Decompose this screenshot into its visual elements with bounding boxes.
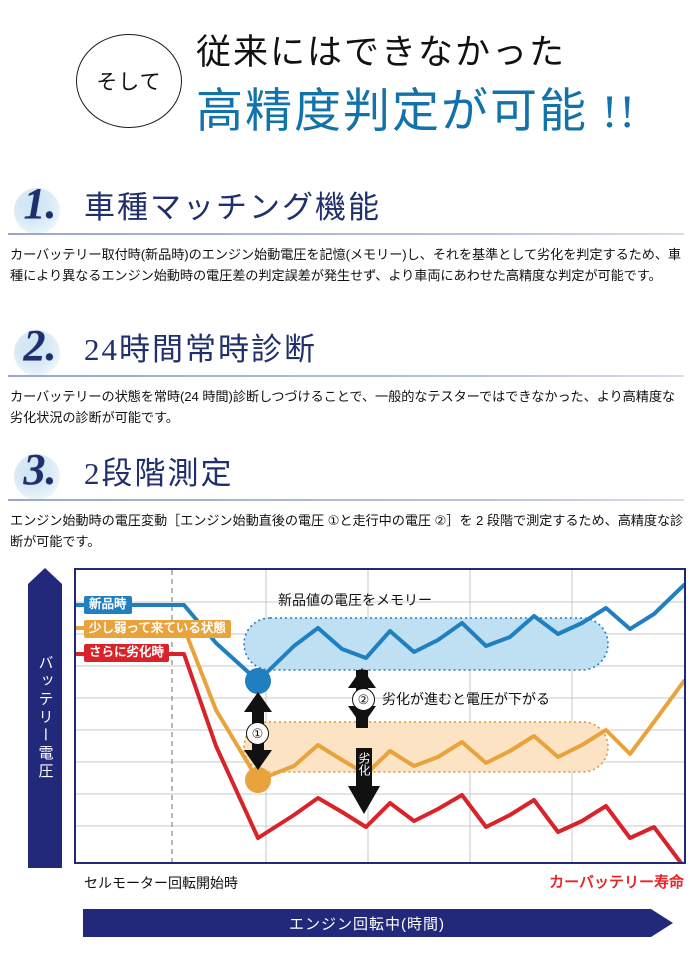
voltage-dot-new — [245, 668, 271, 694]
feature-1-head: 1. 車種マッチング機能 — [0, 178, 700, 240]
feature-2-divider — [8, 375, 684, 377]
feature-section-1: 1. 車種マッチング機能 カーバッテリー取付時(新品時)のエンジン始動電圧を記憶… — [0, 178, 700, 240]
feature-3-body: エンジン始動時の電圧変動［エンジン始動直後の電圧 ①と走行中の電圧 ②］を 2 … — [10, 510, 688, 552]
voltage-chart: バッテリー電圧 — [0, 566, 700, 960]
legend-tag-degraded: さらに劣化時 — [84, 644, 169, 662]
intro-badge: そして — [76, 34, 182, 128]
stage-1-marker: ① — [246, 722, 269, 745]
headline-primary: 従来にはできなかった — [196, 24, 566, 75]
plot-svg — [76, 570, 684, 862]
number-badge-2-label: 2. — [8, 320, 72, 371]
x-axis-note-left: セルモーター回転開始時 — [84, 873, 238, 893]
stage-2-note-label: 劣化が進むと電圧が下がる — [382, 689, 550, 709]
memory-note-label: 新品値の電圧をメモリー — [278, 590, 432, 610]
degrade-arrow-label: 劣化 — [357, 751, 370, 777]
feature-2-title: 24時間常時診断 — [84, 324, 317, 369]
y-axis-label: バッテリー電圧 — [28, 568, 62, 868]
x-axis-banner: エンジン回転中(時間) — [83, 909, 673, 937]
page-header: そして 従来にはできなかった 高精度判定が可能 !! — [0, 0, 700, 160]
feature-2-body: カーバッテリーの状態を常時(24 時間)診断しつづけることで、一般的なテスターで… — [10, 386, 688, 428]
feature-1-title: 車種マッチング機能 — [84, 182, 381, 227]
feature-1-body: カーバッテリー取付時(新品時)のエンジン始動電圧を記憶(メモリー)し、それを基準… — [10, 244, 688, 286]
y-axis-banner: バッテリー電圧 — [28, 568, 62, 868]
number-badge-3: 3. — [8, 446, 72, 504]
feature-section-3: 3. 2段階測定 エンジン始動時の電圧変動［エンジン始動直後の電圧 ①と走行中の… — [0, 444, 700, 506]
number-badge-3-label: 3. — [8, 444, 72, 495]
plot-area: 新品時 少し弱って来ている状態 さらに劣化時 新品値の電圧をメモリー ② 劣化が… — [74, 568, 686, 864]
number-badge-1-label: 1. — [8, 178, 72, 229]
intro-badge-label: そして — [96, 66, 161, 96]
headline-secondary: 高精度判定が可能 !! — [196, 72, 637, 141]
stage-2-marker: ② — [352, 688, 375, 711]
feature-3-title: 2段階測定 — [84, 448, 234, 493]
number-badge-1: 1. — [8, 180, 72, 238]
feature-1-divider — [8, 233, 684, 235]
feature-2-head: 2. 24時間常時診断 — [0, 320, 700, 382]
feature-3-divider — [8, 499, 684, 501]
legend-tag-weakening: 少し弱って来ている状態 — [84, 620, 231, 638]
number-badge-2: 2. — [8, 322, 72, 380]
x-axis-label: エンジン回転中(時間) — [83, 909, 651, 937]
feature-3-head: 3. 2段階測定 — [0, 444, 700, 506]
x-axis-note-right: カーバッテリー寿命 — [549, 871, 684, 892]
voltage-dot-weakening — [245, 767, 271, 793]
feature-section-2: 2. 24時間常時診断 カーバッテリーの状態を常時(24 時間)診断しつづけるこ… — [0, 320, 700, 382]
legend-tag-new: 新品時 — [84, 596, 132, 614]
